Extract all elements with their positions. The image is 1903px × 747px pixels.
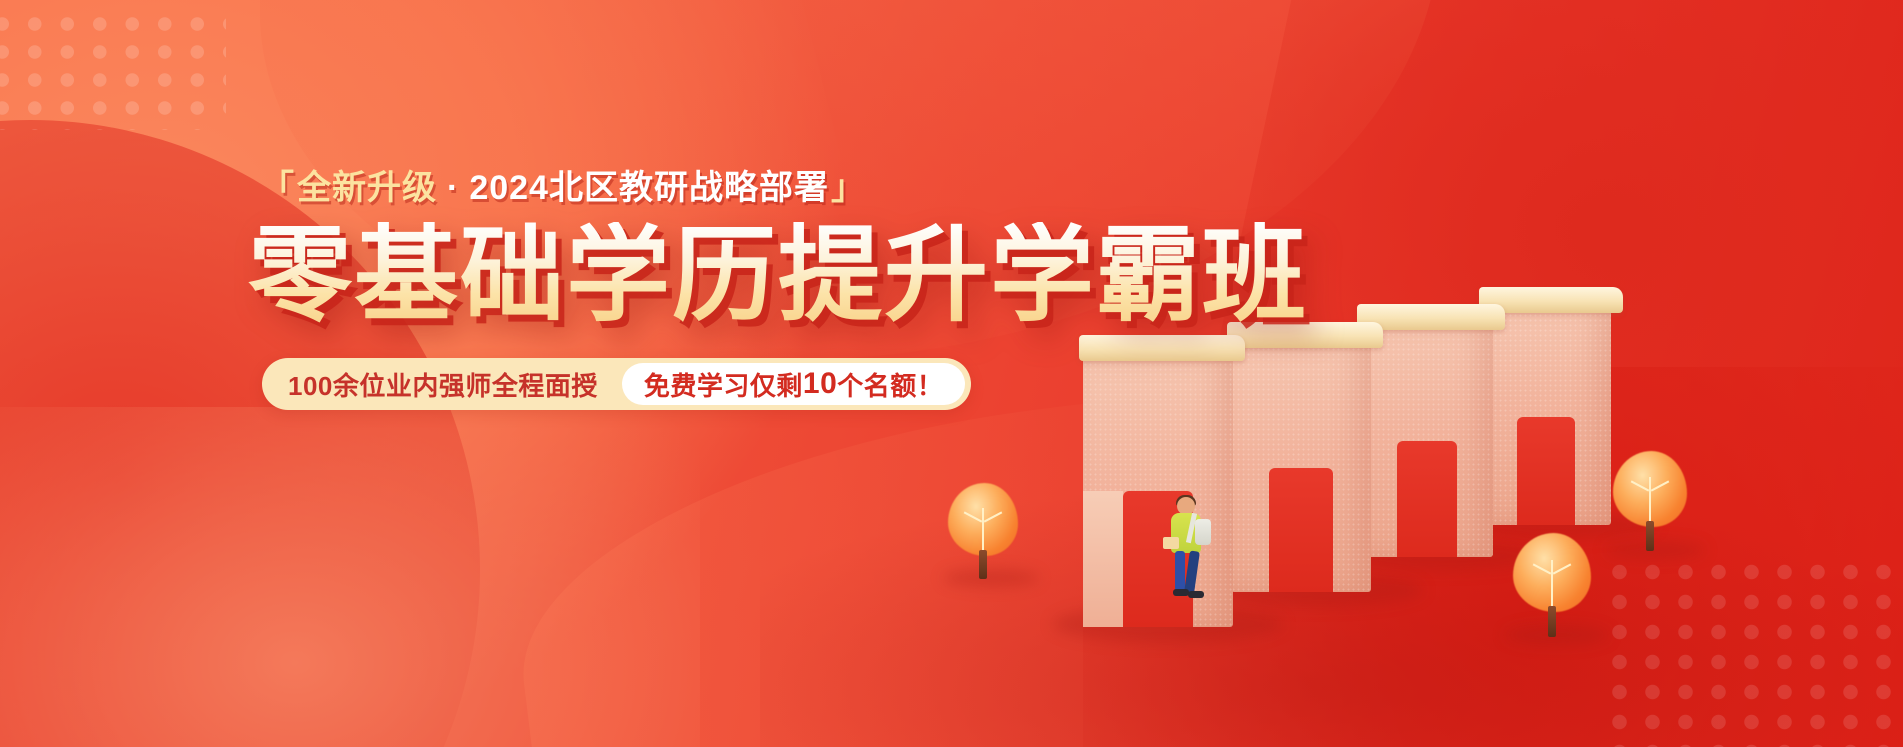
subtitle-white-text: 2024北区教研战略部署	[469, 169, 829, 207]
subtitle-separator: ·	[447, 169, 459, 207]
banner-headline: 零基础学历提升学霸班	[248, 222, 1308, 331]
badge-seats-pill[interactable]: 免费学习仅剩10个名额！	[622, 363, 965, 405]
badge-seats-suffix: 个名额！	[837, 366, 943, 403]
promo-badge[interactable]: 100余位业内强师全程面授 免费学习仅剩10个名额！	[262, 358, 971, 410]
subtitle-gold-text: 全新升级	[297, 169, 437, 207]
badge-instructors-label: 100余位业内强师全程面授	[288, 366, 622, 403]
banner-copy: 「全新升级·2024北区教研战略部署」 零基础学历提升学霸班 100余位业内强师…	[0, 0, 1060, 747]
subtitle-close-bracket: 」	[831, 169, 866, 207]
badge-seats-prefix: 免费学习仅剩	[644, 366, 803, 403]
badge-seats-number: 10	[803, 367, 837, 401]
promo-banner: 「全新升级·2024北区教研战略部署」 零基础学历提升学霸班 100余位业内强师…	[0, 0, 1903, 747]
banner-subtitle: 「全新升级·2024北区教研战略部署」	[258, 160, 868, 209]
subtitle-open-bracket: 「	[260, 169, 295, 207]
